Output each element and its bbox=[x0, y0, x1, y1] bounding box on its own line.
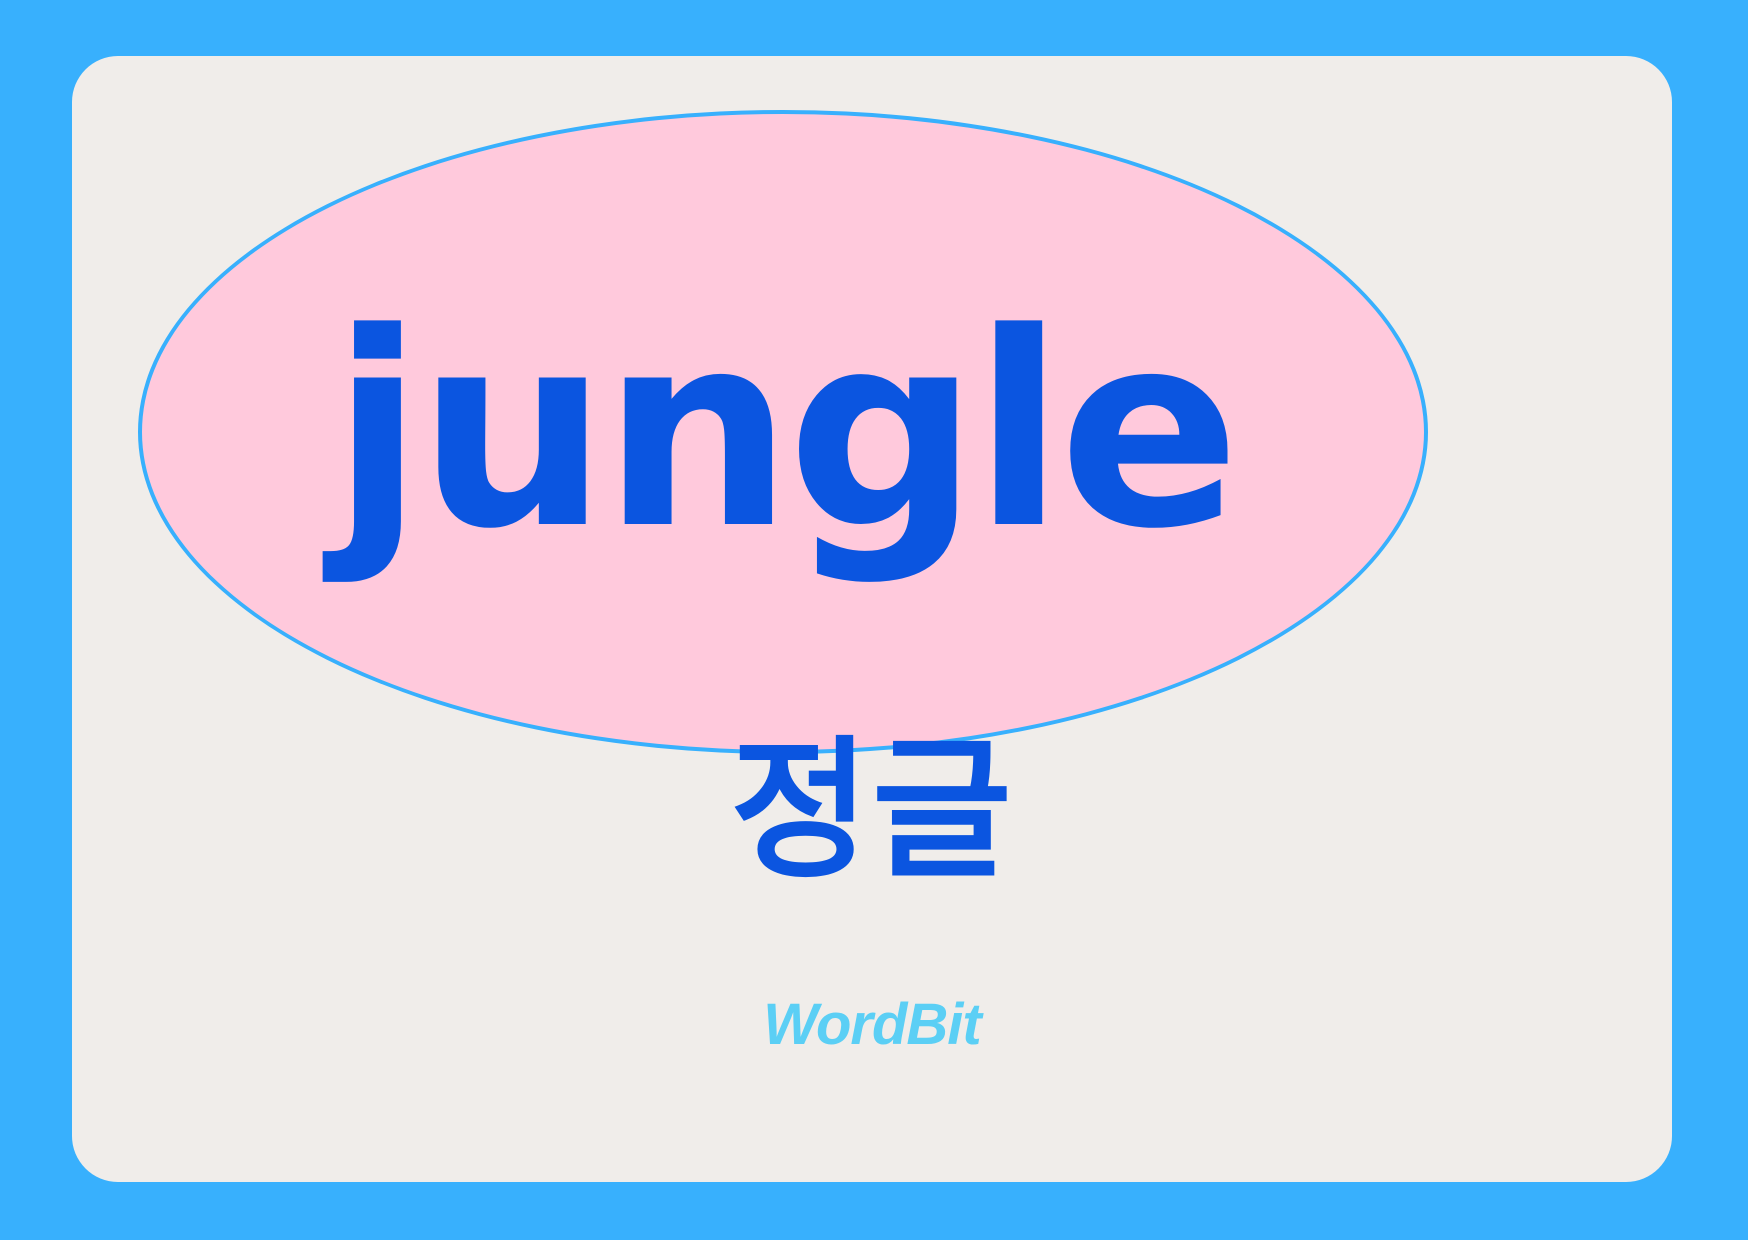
vocabulary-term: jungle bbox=[138, 110, 1428, 754]
vocabulary-translation: 정글 bbox=[72, 726, 1672, 896]
flashcard[interactable]: jungle 정글 WordBit bbox=[72, 56, 1672, 1182]
brand-wordmark: WordBit bbox=[72, 996, 1672, 1054]
flashcard-screen: jungle 정글 WordBit bbox=[0, 0, 1748, 1240]
